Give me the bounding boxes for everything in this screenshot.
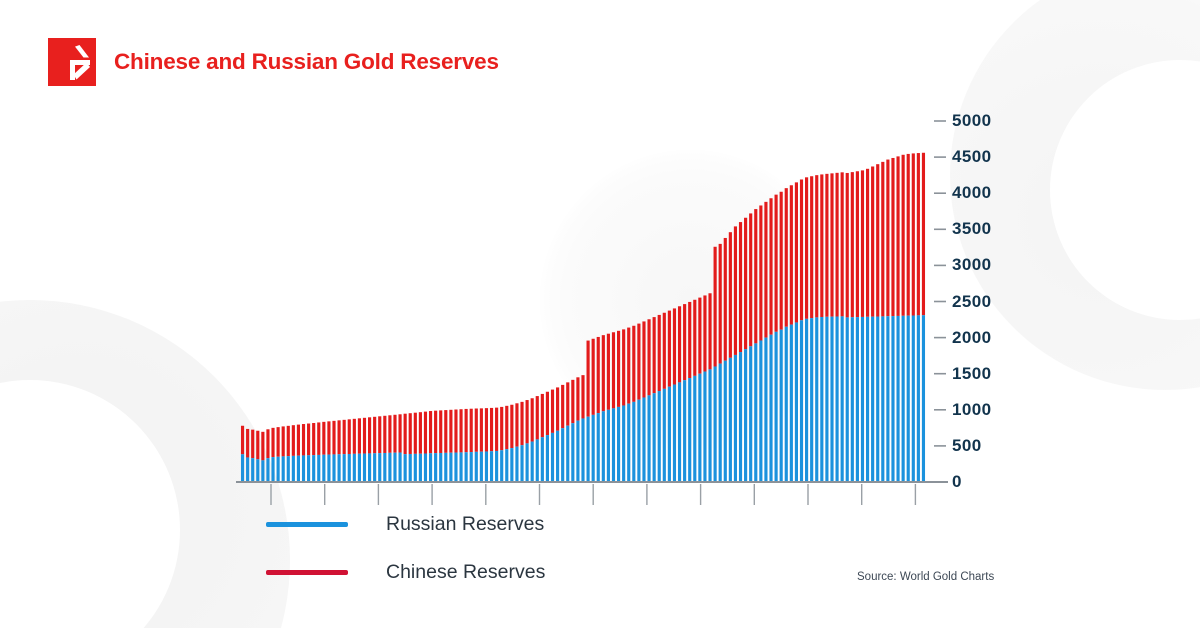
chart-plot-area: 5000450040003500300025002000150010005000 bbox=[0, 0, 1200, 628]
y-axis-tick-2500: 2500 bbox=[952, 292, 991, 312]
y-axis-tick-3500: 3500 bbox=[952, 219, 991, 239]
y-axis-tick-0: 0 bbox=[952, 472, 962, 492]
y-axis-tick-4500: 4500 bbox=[952, 147, 991, 167]
source-note: Source: World Gold Charts bbox=[857, 571, 994, 583]
y-axis-tick-3000: 3000 bbox=[952, 255, 991, 275]
legend-item-chinese[interactable]: Chinese Reserves bbox=[266, 548, 545, 596]
y-axis-tick-1500: 1500 bbox=[952, 364, 991, 384]
stacked-bars bbox=[241, 153, 925, 482]
y-axis-tick-5000: 5000 bbox=[952, 111, 991, 131]
legend-swatch-chinese-icon bbox=[266, 570, 348, 575]
y-axis-tick-4000: 4000 bbox=[952, 183, 991, 203]
y-axis-tick-1000: 1000 bbox=[952, 400, 991, 420]
y-axis-tick-500: 500 bbox=[952, 436, 982, 456]
legend-swatch-russian-icon bbox=[266, 522, 348, 527]
legend-label-russian: Russian Reserves bbox=[386, 513, 544, 536]
y-axis-tick-2000: 2000 bbox=[952, 328, 991, 348]
chart-legend: Russian Reserves Chinese Reserves bbox=[266, 500, 545, 596]
chart-svg bbox=[0, 0, 1200, 628]
legend-item-russian[interactable]: Russian Reserves bbox=[266, 500, 545, 548]
legend-label-chinese: Chinese Reserves bbox=[386, 561, 545, 584]
